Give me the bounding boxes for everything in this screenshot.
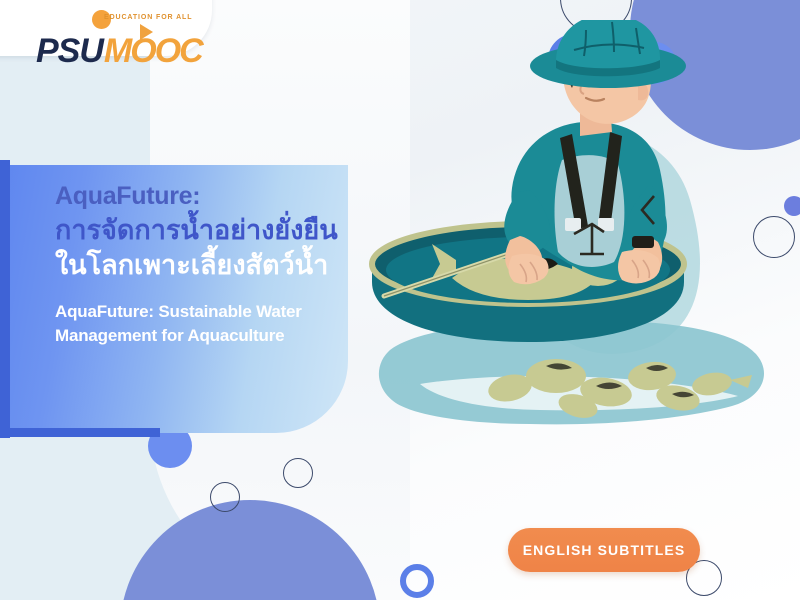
decor-ring-bottom	[400, 564, 434, 598]
logo-mooc-text: MOOC	[104, 36, 202, 67]
decor-outline-circle-lower-b	[283, 458, 313, 488]
logo-psu-text: PSU	[36, 36, 103, 67]
subtitle-english: AquaFuture: Sustainable Water Management…	[55, 300, 385, 348]
logo-tagline: EDUCATION FOR ALL	[104, 14, 192, 21]
brand-logo[interactable]: PSU MOOC	[36, 36, 202, 67]
title-thai-line-2: ในโลกเพาะเลี้ยงสัตว์น้ำ	[55, 248, 385, 284]
title-thai-line-1: การจัดการน้ำอย่างยั่งยืน	[55, 213, 385, 249]
play-triangle-icon	[140, 24, 153, 40]
english-subtitles-label: ENGLISH SUBTITLES	[523, 542, 686, 558]
banner-content: AquaFuture: การจัดการน้ำอย่างยั่งยืน ในโ…	[55, 182, 385, 348]
aquaculture-worker-illustration	[360, 20, 800, 490]
poster-canvas: PSU MOOC EDUCATION FOR ALL AquaFuture: ก…	[0, 0, 800, 600]
banner-left-accent	[0, 160, 10, 438]
decor-outline-circle-lower-a	[210, 482, 240, 512]
banner-bottom-accent	[0, 428, 160, 437]
title-english-lead: AquaFuture:	[55, 182, 385, 211]
english-subtitles-badge[interactable]: ENGLISH SUBTITLES	[508, 528, 700, 572]
